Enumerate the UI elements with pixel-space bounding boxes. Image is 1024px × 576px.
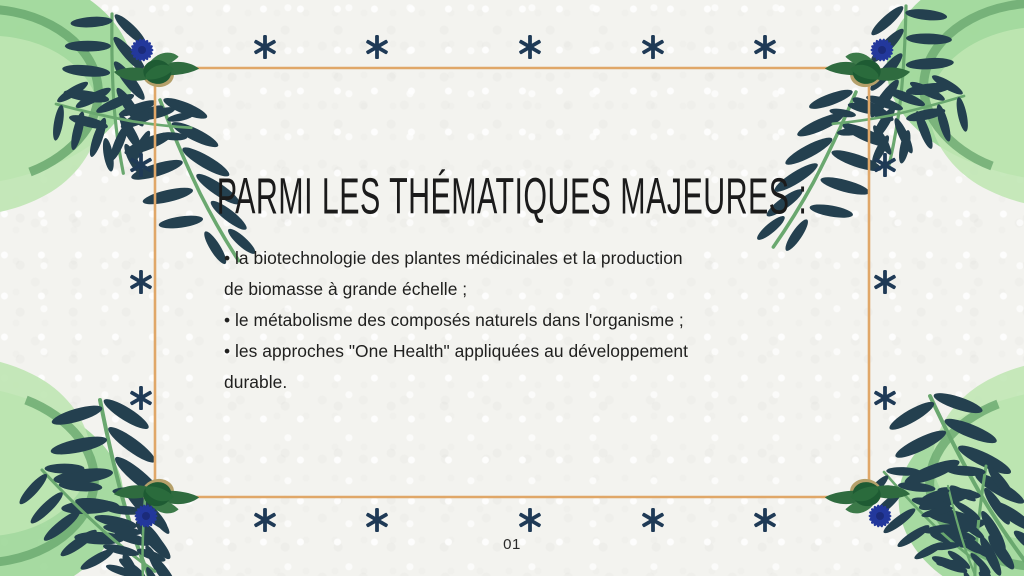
slide-canvas: PARMI LES THÉMATIQUES MAJEURES : • la bi… [0, 0, 1024, 576]
bullet-list: • la biotechnologie des plantes médicina… [224, 243, 824, 398]
list-item: • les approches "One Health" appliquées … [224, 336, 824, 367]
list-item: durable. [224, 367, 824, 398]
list-item: • la biotechnologie des plantes médicina… [224, 243, 824, 274]
slide-title: PARMI LES THÉMATIQUES MAJEURES : [123, 168, 901, 226]
slide-content: PARMI LES THÉMATIQUES MAJEURES : • la bi… [0, 0, 1024, 576]
page-number: 01 [0, 536, 1024, 553]
list-item: de biomasse à grande échelle ; [224, 274, 824, 305]
list-item: • le métabolisme des composés naturels d… [224, 305, 824, 336]
